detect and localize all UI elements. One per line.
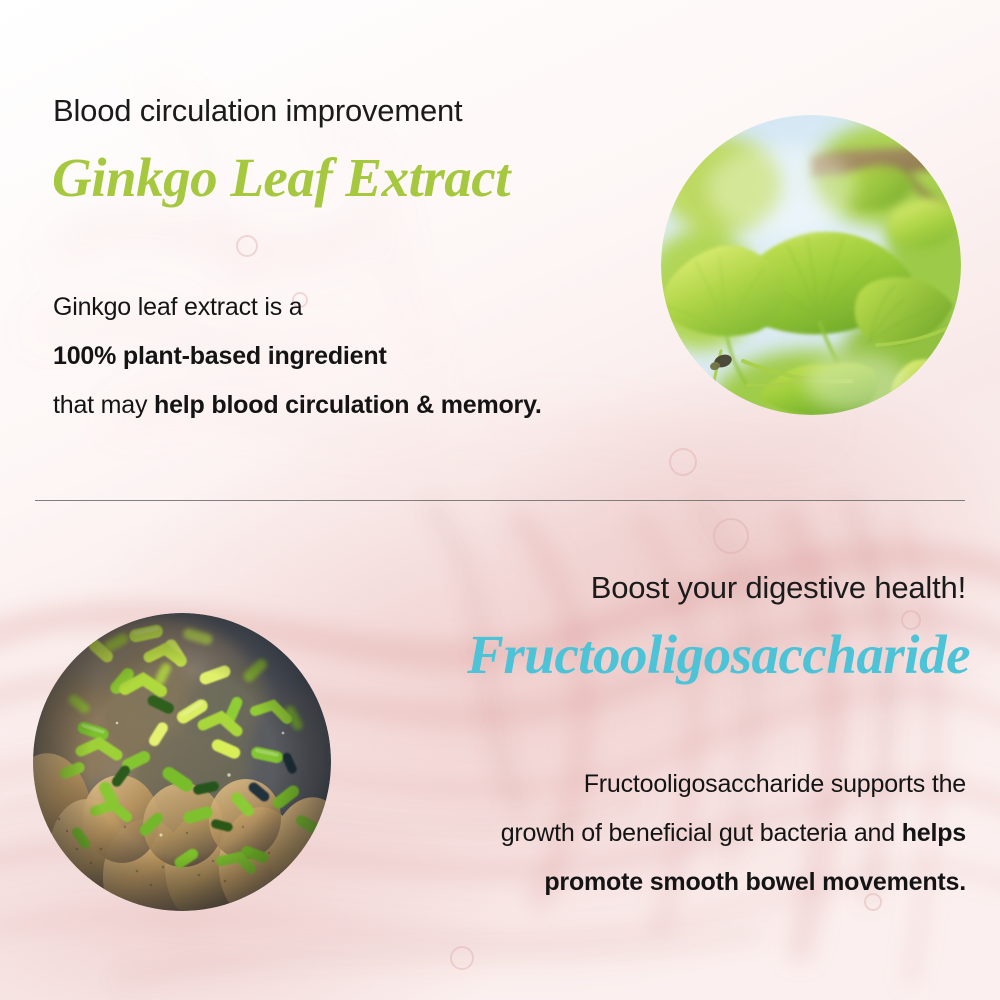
text-segment: that may bbox=[53, 391, 154, 419]
fos-body-line: Fructooligosaccharide supports the bbox=[366, 760, 966, 809]
ginkgo-body-line: 100% plant-based ingredient bbox=[53, 332, 663, 381]
fos-body: Fructooligosaccharide supports the growt… bbox=[366, 760, 966, 907]
text-segment-bold: 100% plant-based ingredient bbox=[53, 342, 387, 370]
ginkgo-leaves-photo bbox=[661, 115, 961, 415]
ginkgo-body-line: that may help blood circulation & memory… bbox=[53, 381, 663, 430]
ginkgo-body: Ginkgo leaf extract is a 100% plant-base… bbox=[53, 283, 663, 430]
ginkgo-body-line: Ginkgo leaf extract is a bbox=[53, 283, 663, 332]
text-segment: growth of beneficial gut bacteria and bbox=[501, 819, 902, 847]
fos-body-line: promote smooth bowel movements. bbox=[366, 858, 966, 907]
gut-bacteria-microscopy-photo bbox=[33, 613, 331, 911]
fos-title: Fructooligosaccharide bbox=[467, 623, 970, 686]
text-segment-bold: promote smooth bowel movements. bbox=[544, 868, 966, 896]
fos-body-line: growth of beneficial gut bacteria and he… bbox=[366, 809, 966, 858]
text-segment: Fructooligosaccharide supports the bbox=[584, 770, 966, 798]
text-segment-bold: help blood circulation & memory. bbox=[154, 391, 542, 419]
infographic-page: Blood circulation improvement Ginkgo Lea… bbox=[0, 0, 1000, 1000]
text-segment: Ginkgo leaf extract is a bbox=[53, 293, 303, 321]
ginkgo-eyebrow: Blood circulation improvement bbox=[53, 93, 462, 129]
text-segment-bold: helps bbox=[902, 819, 966, 847]
section-divider bbox=[35, 500, 965, 501]
ginkgo-title: Ginkgo Leaf Extract bbox=[52, 146, 510, 209]
fos-eyebrow: Boost your digestive health! bbox=[591, 570, 966, 606]
